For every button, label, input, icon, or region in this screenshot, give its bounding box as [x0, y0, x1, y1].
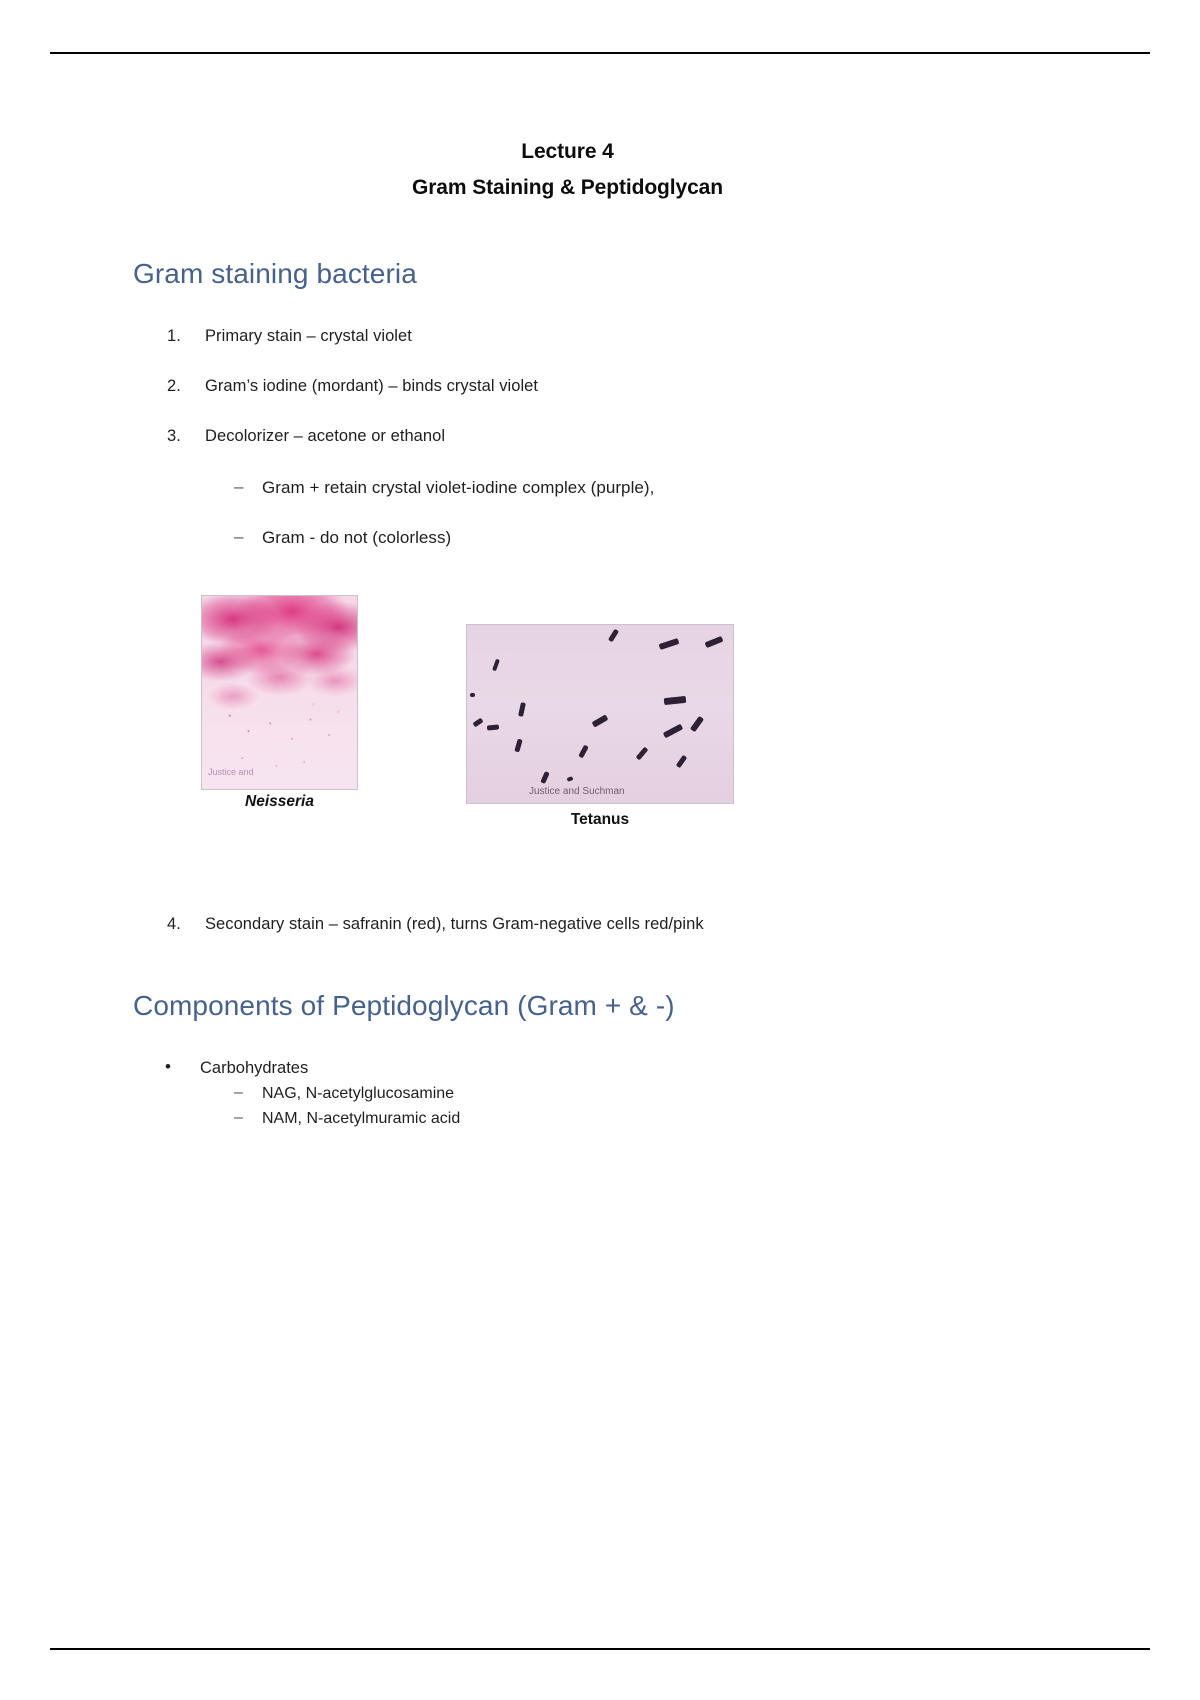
list-item-text: Primary stain – crystal violet — [205, 327, 412, 346]
section-heading-components-peptidoglycan: Components of Peptidoglycan (Gram + & -) — [133, 990, 675, 1022]
micrograph-image-neisseria: Justice and — [201, 595, 358, 790]
sub-item-text: Gram - do not (colorless) — [262, 528, 451, 548]
image-watermark: Justice and — [208, 767, 254, 777]
figure-caption-tetanus: Tetanus — [466, 811, 734, 829]
list-marker: 1. — [167, 327, 205, 346]
header-rule — [50, 52, 1150, 54]
list-item-decolorizer: 3. Decolorizer – acetone or ethanol — [167, 427, 445, 446]
image-watermark: Justice and Suchman — [529, 786, 625, 797]
bullet-item-text: Carbohydrates — [200, 1059, 308, 1078]
list-item-gram-iodine: 2. Gram’s iodine (mordant) – binds cryst… — [167, 377, 538, 396]
list-item-secondary-stain: 4. Secondary stain – safranin (red), tur… — [167, 915, 704, 934]
list-item-text: Secondary stain – safranin (red), turns … — [205, 915, 704, 934]
list-marker: 3. — [167, 427, 205, 446]
list-item-primary-stain: 1. Primary stain – crystal violet — [167, 327, 412, 346]
sub-bullet-nam: – NAM, N-acetylmuramic acid — [234, 1110, 460, 1128]
sub-item-gram-positive: – Gram + retain crystal violet-iodine co… — [234, 478, 654, 498]
dash-marker: – — [234, 527, 262, 547]
footer-rule — [50, 1648, 1150, 1650]
title-line-1: Lecture 4 — [521, 140, 613, 163]
list-marker: 4. — [167, 915, 205, 934]
list-item-text: Decolorizer – acetone or ethanol — [205, 427, 445, 446]
dash-marker: – — [234, 477, 262, 497]
list-item-text: Gram’s iodine (mordant) – binds crystal … — [205, 377, 538, 396]
sub-item-gram-negative: – Gram - do not (colorless) — [234, 528, 451, 548]
figure-tetanus: Justice and Suchman Tetanus — [466, 624, 734, 829]
figure-caption-neisseria: Neisseria — [201, 793, 358, 811]
bullet-marker: • — [165, 1057, 200, 1077]
title-line-2: Gram Staining & Peptidoglycan — [0, 170, 1135, 206]
document-page: Lecture 4 Gram Staining & Peptidoglycan … — [0, 0, 1200, 1700]
micrograph-image-tetanus: Justice and Suchman — [466, 624, 734, 804]
section-heading-gram-staining: Gram staining bacteria — [133, 258, 417, 290]
list-marker: 2. — [167, 377, 205, 396]
sub-item-text: Gram + retain crystal violet-iodine comp… — [262, 478, 654, 498]
sub-bullet-text: NAM, N-acetylmuramic acid — [262, 1110, 460, 1128]
dash-marker: – — [234, 1084, 262, 1102]
sub-bullet-nag: – NAG, N-acetylglucosamine — [234, 1085, 454, 1103]
sub-bullet-text: NAG, N-acetylglucosamine — [262, 1085, 454, 1103]
figure-neisseria: Justice and Neisseria — [201, 595, 358, 811]
bullet-item-carbohydrates: • Carbohydrates — [165, 1059, 308, 1078]
dash-marker: – — [234, 1109, 262, 1127]
page-title: Lecture 4 Gram Staining & Peptidoglycan — [0, 134, 1135, 205]
